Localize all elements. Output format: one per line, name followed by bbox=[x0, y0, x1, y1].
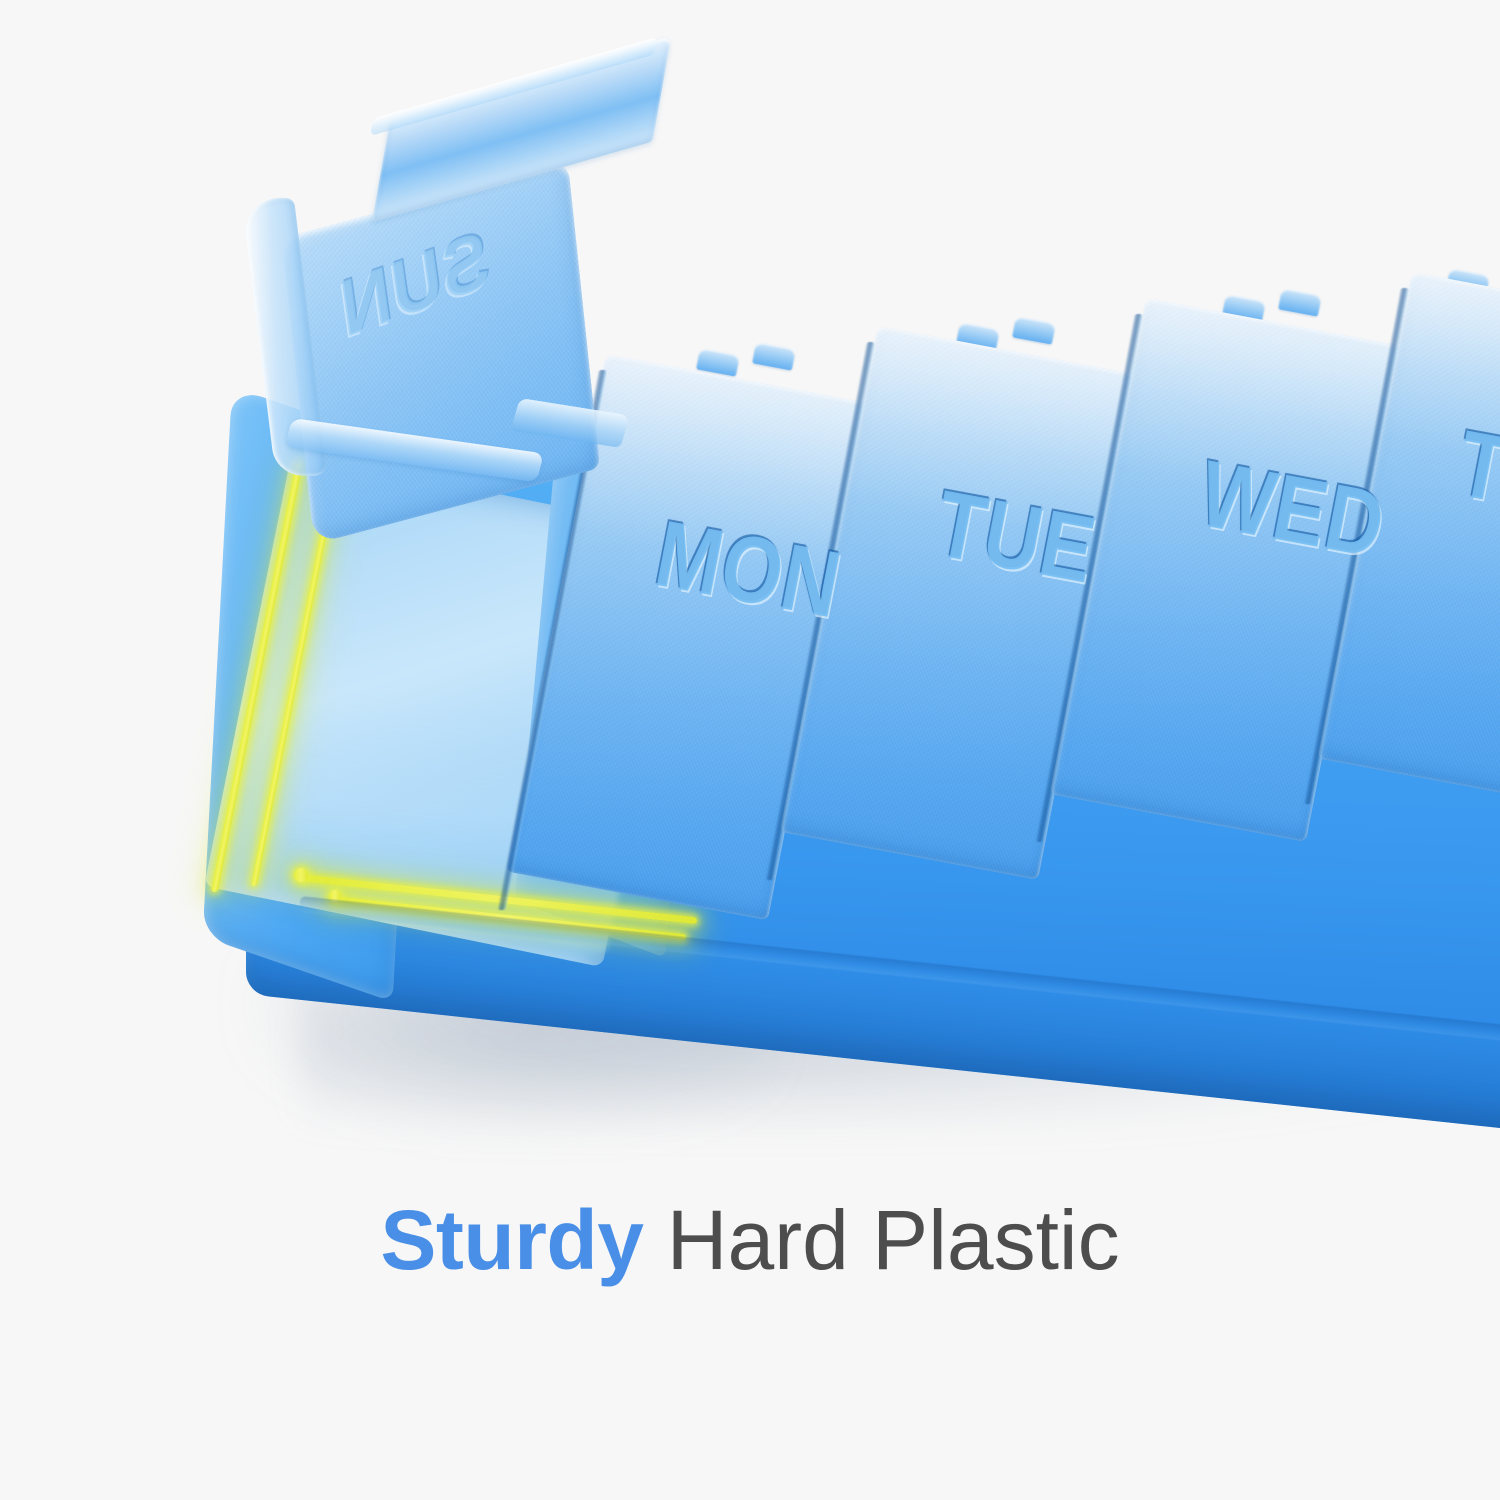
open-compartment-floor bbox=[275, 690, 650, 955]
day-label-sun: SUN bbox=[333, 212, 494, 356]
day-label-wed: WED bbox=[1191, 440, 1393, 580]
open-lid-spine bbox=[241, 197, 328, 476]
caption: Sturdy Hard Plastic bbox=[0, 1196, 1500, 1284]
highlight-line-bottom-outer bbox=[299, 874, 697, 924]
highlight-corner-outer bbox=[294, 868, 308, 882]
lid-thu[interactable] bbox=[1318, 272, 1500, 805]
product-image-canvas: MON TUE WED THU SUN Sturdy Hard Plastic bbox=[0, 0, 1500, 1500]
lid-seam bbox=[1035, 314, 1143, 842]
highlight-line-left-outer bbox=[211, 462, 303, 892]
lid-seam bbox=[1303, 288, 1409, 804]
highlight-line-bottom-inner bbox=[334, 896, 686, 940]
open-compartment-inner-wall bbox=[515, 446, 706, 958]
highlight-line-left-inner bbox=[251, 486, 336, 886]
open-lid-tab-edge bbox=[370, 37, 658, 136]
day-label-mon: MON bbox=[647, 500, 849, 640]
lid-mon[interactable] bbox=[506, 354, 868, 920]
lid-wed[interactable] bbox=[1050, 298, 1402, 842]
ground-shadow-secondary bbox=[250, 900, 770, 1130]
organizer-base-shell bbox=[246, 424, 1500, 1136]
hinge-knuckle bbox=[752, 342, 796, 371]
hinge-knuckle bbox=[1222, 294, 1266, 323]
day-label-tue: TUE bbox=[927, 470, 1104, 605]
open-lid-hinge-joint bbox=[285, 418, 544, 482]
day-label-thu: THU bbox=[1449, 410, 1500, 546]
lid-tue[interactable] bbox=[780, 326, 1136, 880]
hinge-knuckle bbox=[1278, 288, 1322, 317]
highlight-corner-inner bbox=[329, 890, 341, 902]
lid-sun-open[interactable] bbox=[282, 162, 600, 544]
lid-seam bbox=[497, 370, 607, 910]
open-lid-thumb-tab[interactable] bbox=[372, 36, 671, 222]
caption-accent-word: Sturdy bbox=[380, 1193, 643, 1287]
hinge-knuckle bbox=[1446, 268, 1490, 297]
hinge-knuckle bbox=[696, 348, 740, 377]
organizer-base-lip bbox=[300, 896, 1500, 1048]
hinge-knuckle bbox=[1012, 316, 1056, 345]
organizer-left-end-cap bbox=[203, 387, 422, 1002]
open-compartment-cavity bbox=[204, 452, 690, 967]
hinge-knuckle bbox=[956, 322, 1000, 351]
open-lid-hinge-joint-right bbox=[510, 398, 630, 448]
lid-seam bbox=[765, 342, 875, 880]
ground-shadow bbox=[300, 980, 1460, 1130]
caption-rest-text: Hard Plastic bbox=[643, 1193, 1119, 1287]
